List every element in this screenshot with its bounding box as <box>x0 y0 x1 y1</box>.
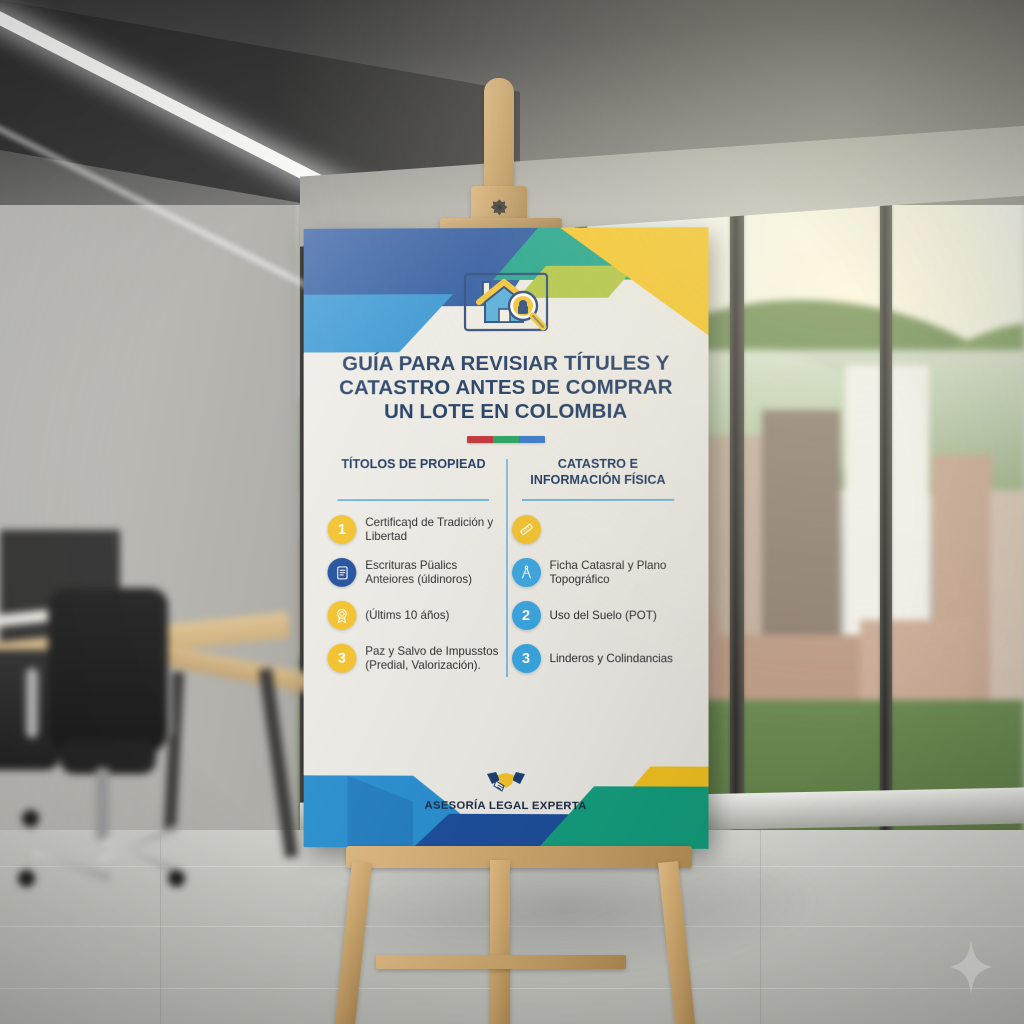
infographic-poster: GUÍA PARA REVISIAR TÍTULES Y CATASTRO AN… <box>304 227 709 849</box>
list-item-label: Paz y Salvo de Impusstos (Predial, Valor… <box>365 644 499 672</box>
poster-footer: ASESORÍA LEGAL EXPERTA <box>304 767 709 812</box>
list-item-label: Linderos y Colindancias <box>550 652 673 666</box>
number-badge: 3 <box>327 644 356 673</box>
poster-columns: TÍTOLOS DE PROPIEAD 1 Certificaɿd de Tra… <box>304 457 709 674</box>
list-item: Escrituras Püalics Anteiores (úldinoros) <box>327 558 499 587</box>
easel-center-leg <box>490 860 510 1024</box>
column-item-list: Ficha Catasral y Plano Topográfico 2 Uso… <box>511 515 684 673</box>
list-item: 2 Uso del Suelo (POT) <box>511 601 684 630</box>
seal-award-icon <box>327 601 356 630</box>
footer-tagline: ASESORÍA LEGAL EXPERTA <box>424 800 586 813</box>
list-item-label: Uso del Suelo (POT) <box>550 609 657 623</box>
list-item-label: Escrituras Püalics Anteiores (úldinoros) <box>365 559 499 587</box>
list-item: 3 Paz y Salvo de Impusstos (Predial, Val… <box>327 644 499 673</box>
list-item-label: Ficha Catasral y Plano Topográfico <box>550 559 685 587</box>
column-heading: CATASTRO E INFORMACIÓN FÍSICA <box>511 457 684 491</box>
list-item-label: Certificaɿd de Tradición y Libertad <box>365 516 499 544</box>
column-catastro: CATASTRO E INFORMACIÓN FÍSICA <box>506 457 691 674</box>
poster-title: GUÍA PARA REVISIAR TÍTULES Y CATASTRO AN… <box>336 352 676 424</box>
column-rule <box>522 499 674 501</box>
easel-cross-rung <box>376 955 626 969</box>
easel-shelf <box>346 846 692 868</box>
tricolor-divider <box>467 436 545 443</box>
four-pointed-star-sparkle-icon <box>946 938 996 996</box>
column-divider <box>506 459 508 677</box>
handshake-icon <box>485 768 527 796</box>
number-badge: 2 <box>511 601 540 630</box>
list-item: 3 Linderos y Colindancias <box>511 644 684 673</box>
list-item-label: (Últims 10 áños) <box>365 609 449 623</box>
number-badge: 3 <box>511 644 540 673</box>
compass-divider-icon <box>511 558 540 587</box>
column-heading: TÍTOLOS DE PROPIEAD <box>327 457 499 491</box>
column-titulos: TÍTOLOS DE PROPIEAD 1 Certificaɿd de Tra… <box>321 457 505 673</box>
tribar-segment-green <box>493 436 519 443</box>
scroll-document-icon <box>327 558 356 587</box>
list-item: 1 Certificaɿd de Tradición y Libertad <box>327 515 499 544</box>
easel-knob-icon <box>489 198 510 219</box>
number-badge: 1 <box>327 515 356 544</box>
column-rule <box>338 499 489 501</box>
column-item-list: 1 Certificaɿd de Tradición y Libertad <box>327 515 499 673</box>
list-item: Ficha Catasral y Plano Topográfico <box>511 558 684 587</box>
list-item <box>511 515 684 544</box>
ruler-icon <box>511 515 540 544</box>
house-with-magnifying-glass-icon <box>459 270 553 336</box>
list-item: (Últims 10 áños) <box>327 601 499 630</box>
tribar-segment-red <box>467 436 493 443</box>
tribar-segment-blue <box>518 436 544 443</box>
office-scene-photo: GUÍA PARA REVISIAR TÍTULES Y CATASTRO AN… <box>0 0 1024 1024</box>
